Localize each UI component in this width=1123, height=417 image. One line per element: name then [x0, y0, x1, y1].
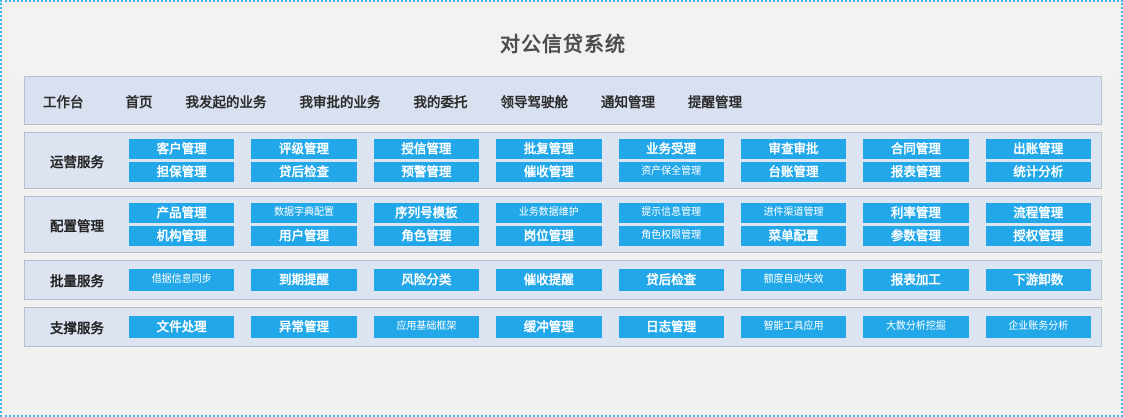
- module-button[interactable]: 流程管理: [986, 203, 1091, 223]
- module-button[interactable]: 资产保全管理: [619, 162, 724, 182]
- module-button[interactable]: 借据信息同步: [129, 269, 234, 291]
- window-content: 对公信贷系统 工作台首页我发起的业务我审批的业务我的委托领导驾驶舱通知管理提醒管…: [10, 8, 1116, 407]
- module-button[interactable]: 评级管理: [251, 139, 356, 159]
- section-label: 运营服务: [25, 151, 129, 171]
- module-button[interactable]: 利率管理: [863, 203, 968, 223]
- module-button[interactable]: 业务受理: [619, 139, 724, 159]
- module-button[interactable]: 进件渠道管理: [741, 203, 846, 223]
- module-button[interactable]: 担保管理: [129, 162, 234, 182]
- section-button-grid: 客户管理评级管理授信管理批复管理业务受理审查审批合同管理出账管理担保管理贷后检查…: [129, 139, 1101, 182]
- module-button[interactable]: 企业账务分析: [986, 316, 1091, 338]
- module-button[interactable]: 到期提醒: [251, 269, 356, 291]
- module-button[interactable]: 审查审批: [741, 139, 846, 159]
- title-bar: 对公信贷系统: [10, 8, 1116, 76]
- module-button[interactable]: 下游卸数: [986, 269, 1091, 291]
- nav-item-0[interactable]: 工作台: [43, 91, 84, 111]
- section-panel-3: 支撑服务文件处理异常管理应用基础框架缓冲管理日志管理智能工具应用大数分析挖掘企业…: [24, 307, 1102, 347]
- module-button[interactable]: 数据字典配置: [251, 203, 356, 223]
- module-button[interactable]: 提示信息管理: [619, 203, 724, 223]
- module-button[interactable]: 文件处理: [129, 316, 234, 338]
- section-label: 批量服务: [25, 270, 129, 290]
- nav-item-1[interactable]: 首页: [126, 91, 153, 111]
- section-button-grid: 文件处理异常管理应用基础框架缓冲管理日志管理智能工具应用大数分析挖掘企业账务分析: [129, 316, 1101, 338]
- module-button[interactable]: 授信管理: [374, 139, 479, 159]
- navbar: 工作台首页我发起的业务我审批的业务我的委托领导驾驶舱通知管理提醒管理: [25, 77, 1101, 124]
- section-button-grid: 借据信息同步到期提醒风险分类催收提醒贷后检查额度自动失效报表加工下游卸数: [129, 269, 1101, 291]
- section-panel-2: 批量服务借据信息同步到期提醒风险分类催收提醒贷后检查额度自动失效报表加工下游卸数: [24, 260, 1102, 300]
- module-button[interactable]: 报表管理: [863, 162, 968, 182]
- module-button[interactable]: 用户管理: [251, 226, 356, 246]
- module-sections: 运营服务客户管理评级管理授信管理批复管理业务受理审查审批合同管理出账管理担保管理…: [10, 132, 1116, 347]
- module-button[interactable]: 参数管理: [863, 226, 968, 246]
- button-row: 机构管理用户管理角色管理岗位管理角色权限管理菜单配置参数管理授权管理: [129, 226, 1091, 246]
- module-button[interactable]: 合同管理: [863, 139, 968, 159]
- module-button[interactable]: 贷后检查: [251, 162, 356, 182]
- section-1: 配置管理产品管理数据字典配置序列号模板业务数据维护提示信息管理进件渠道管理利率管…: [25, 197, 1101, 252]
- section-button-grid: 产品管理数据字典配置序列号模板业务数据维护提示信息管理进件渠道管理利率管理流程管…: [129, 203, 1101, 246]
- module-button[interactable]: 授权管理: [986, 226, 1091, 246]
- module-button[interactable]: 预警管理: [374, 162, 479, 182]
- module-button[interactable]: 统计分析: [986, 162, 1091, 182]
- module-button[interactable]: 应用基础框架: [374, 316, 479, 338]
- module-button[interactable]: 风险分类: [374, 269, 479, 291]
- section-0: 运营服务客户管理评级管理授信管理批复管理业务受理审查审批合同管理出账管理担保管理…: [25, 133, 1101, 188]
- section-3: 支撑服务文件处理异常管理应用基础框架缓冲管理日志管理智能工具应用大数分析挖掘企业…: [25, 308, 1101, 346]
- module-button[interactable]: 产品管理: [129, 203, 234, 223]
- button-row: 产品管理数据字典配置序列号模板业务数据维护提示信息管理进件渠道管理利率管理流程管…: [129, 203, 1091, 223]
- module-button[interactable]: 大数分析挖掘: [863, 316, 968, 338]
- module-button[interactable]: 机构管理: [129, 226, 234, 246]
- section-panel-1: 配置管理产品管理数据字典配置序列号模板业务数据维护提示信息管理进件渠道管理利率管…: [24, 196, 1102, 253]
- nav-item-3[interactable]: 我审批的业务: [300, 91, 381, 111]
- module-button[interactable]: 额度自动失效: [741, 269, 846, 291]
- module-button[interactable]: 异常管理: [251, 316, 356, 338]
- module-button[interactable]: 岗位管理: [496, 226, 601, 246]
- nav-item-2[interactable]: 我发起的业务: [186, 91, 267, 111]
- module-button[interactable]: 催收提醒: [496, 269, 601, 291]
- main-navigation: 工作台首页我发起的业务我审批的业务我的委托领导驾驶舱通知管理提醒管理: [24, 76, 1102, 125]
- section-label: 配置管理: [25, 215, 129, 235]
- nav-item-5[interactable]: 领导驾驶舱: [501, 91, 569, 111]
- module-button[interactable]: 序列号模板: [374, 203, 479, 223]
- module-button[interactable]: 出账管理: [986, 139, 1091, 159]
- section-label: 支撑服务: [25, 317, 129, 337]
- section-2: 批量服务借据信息同步到期提醒风险分类催收提醒贷后检查额度自动失效报表加工下游卸数: [25, 261, 1101, 299]
- button-row: 文件处理异常管理应用基础框架缓冲管理日志管理智能工具应用大数分析挖掘企业账务分析: [129, 316, 1091, 338]
- nav-item-6[interactable]: 通知管理: [601, 91, 655, 111]
- module-button[interactable]: 贷后检查: [619, 269, 724, 291]
- module-button[interactable]: 菜单配置: [741, 226, 846, 246]
- section-panel-0: 运营服务客户管理评级管理授信管理批复管理业务受理审查审批合同管理出账管理担保管理…: [24, 132, 1102, 189]
- nav-item-7[interactable]: 提醒管理: [688, 91, 742, 111]
- module-button[interactable]: 智能工具应用: [741, 316, 846, 338]
- module-button[interactable]: 业务数据维护: [496, 203, 601, 223]
- button-row: 客户管理评级管理授信管理批复管理业务受理审查审批合同管理出账管理: [129, 139, 1091, 159]
- application-window: 对公信贷系统 工作台首页我发起的业务我审批的业务我的委托领导驾驶舱通知管理提醒管…: [0, 0, 1123, 417]
- module-button[interactable]: 客户管理: [129, 139, 234, 159]
- module-button[interactable]: 缓冲管理: [496, 316, 601, 338]
- nav-item-4[interactable]: 我的委托: [414, 91, 468, 111]
- module-button[interactable]: 报表加工: [863, 269, 968, 291]
- module-button[interactable]: 催收管理: [496, 162, 601, 182]
- module-button[interactable]: 角色管理: [374, 226, 479, 246]
- button-row: 担保管理贷后检查预警管理催收管理资产保全管理台账管理报表管理统计分析: [129, 162, 1091, 182]
- module-button[interactable]: 台账管理: [741, 162, 846, 182]
- module-button[interactable]: 角色权限管理: [619, 226, 724, 246]
- module-button[interactable]: 日志管理: [619, 316, 724, 338]
- button-row: 借据信息同步到期提醒风险分类催收提醒贷后检查额度自动失效报表加工下游卸数: [129, 269, 1091, 291]
- page-title: 对公信贷系统: [500, 28, 626, 57]
- module-button[interactable]: 批复管理: [496, 139, 601, 159]
